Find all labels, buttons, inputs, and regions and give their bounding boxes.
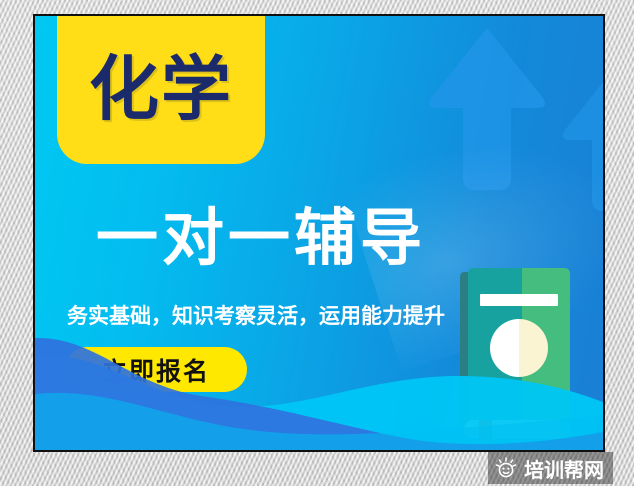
watermark: 培训帮网 xyxy=(488,452,613,484)
watermark-text: 培训帮网 xyxy=(524,454,604,483)
subject-badge-label: 化学 xyxy=(89,54,233,124)
page-background: 化学 xyxy=(0,0,634,486)
wave-decoration xyxy=(35,320,603,450)
sun-face-icon xyxy=(495,457,517,479)
promo-banner[interactable]: 化学 xyxy=(33,14,605,452)
subject-badge: 化学 xyxy=(57,14,265,164)
up-arrow-icon xyxy=(425,24,550,194)
page-title: 一对一辅导 xyxy=(36,202,486,273)
up-arrow-icon xyxy=(559,64,605,214)
